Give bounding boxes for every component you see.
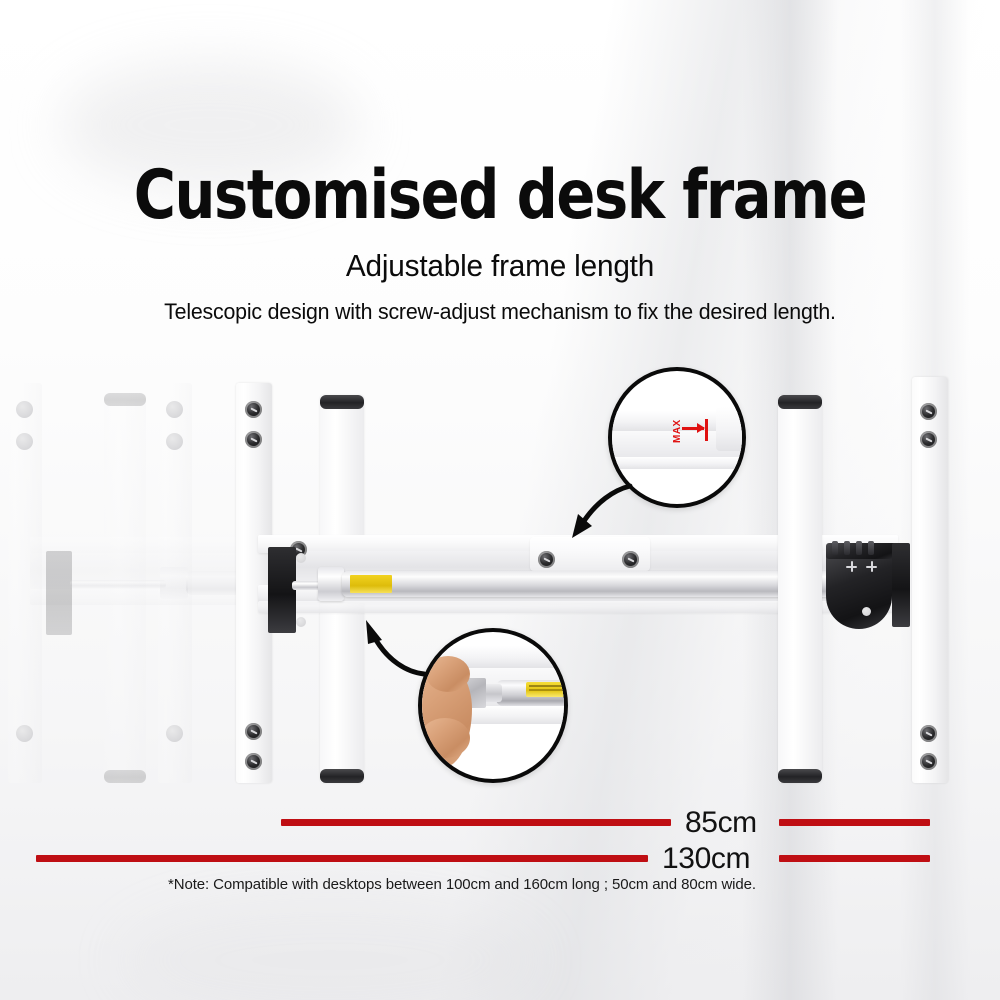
callout-screw-adjust [418,628,568,783]
compatibility-note: *Note: Compatible with desktops between … [168,875,756,895]
callout-beam-lower [608,457,746,469]
ghost-bolt [166,401,183,418]
callout-screw-content [422,632,564,779]
bolt-right-bottom-1 [920,725,937,742]
bolt-left-top-1 [245,401,262,418]
motor-side-panel [892,543,910,627]
ghost-foot-cap [104,393,146,406]
dimension-line-130-left [36,855,648,862]
bracket-bolt [296,617,306,627]
dimension-line-130-right [779,855,930,862]
foot-bar-right [778,395,822,783]
motor-fin [856,541,862,555]
foot-cap-right-top [778,395,822,409]
ghost-bolt [16,725,33,742]
hand-finger [420,718,470,758]
dimension-line-85-left [281,819,671,826]
actuator-tube [342,571,832,597]
motor-fin [832,541,838,555]
dimension-label-85: 85cm [685,808,757,838]
bolt-crossbar-left [538,551,555,568]
bolt-left-top-2 [245,431,262,448]
ghost-end-bracket [46,551,72,635]
max-limit-bar [705,419,708,441]
motor-fin [868,541,874,555]
foot-cap-right-bottom [778,769,822,783]
callout-outer-sleeve [716,407,746,451]
foot-cap-left-top [320,395,364,409]
dimension-line-85-right [779,819,930,826]
callout-arrow-max [548,480,634,546]
motor-screw-plus-left [846,561,857,572]
page-subtitle: Adjustable frame length [20,248,980,284]
bolt-right-top-1 [920,403,937,420]
bracket-bolt [296,553,306,563]
bolt-right-bottom-2 [920,753,937,770]
motor-housing [826,547,892,629]
motor-fin [844,541,850,555]
bolt-right-top-2 [920,431,937,448]
adjust-collar [318,567,344,601]
hand-thumb [426,656,470,692]
callout2-yellow-label [526,682,568,697]
ghost-foot-cap [104,770,146,783]
ghost-bolt [166,433,183,450]
ghost-bolt [16,433,33,450]
dimension-label-130: 130cm [662,844,750,874]
ghost-piston-rod [70,580,166,588]
motor-screw-plus-right [866,561,877,572]
page-description: Telescopic design with screw-adjust mech… [15,298,985,326]
bolt-crossbar-right [622,551,639,568]
bolt-left-bottom-2 [245,753,262,770]
motor-bolt [862,607,871,616]
yellow-spec-label [350,575,392,593]
foot-cap-left-bottom [320,769,364,783]
ghost-collar [160,567,188,599]
marketing-image: Customised desk frame Adjustable frame l… [0,0,1000,1000]
bolt-left-bottom-1 [245,723,262,740]
callout-arrow-screw [348,612,428,680]
max-label: MAX [672,419,683,443]
page-title: Customised desk frame [30,158,970,234]
ghost-bolt [166,725,183,742]
end-bracket-left [268,547,296,633]
max-arrow-icon [682,427,704,430]
ghost-bolt [16,401,33,418]
